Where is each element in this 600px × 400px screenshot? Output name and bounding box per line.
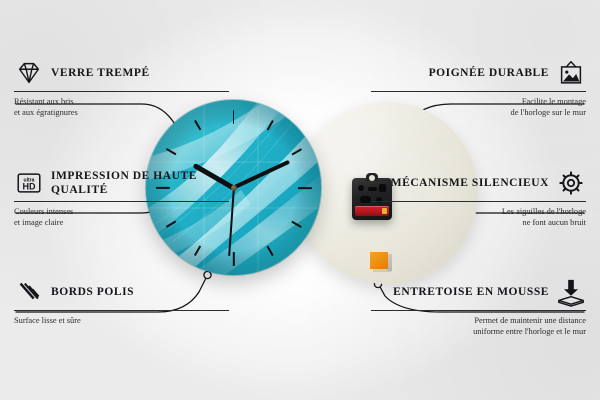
feature-description: Permet de maintenir une distance uniform… <box>371 315 586 338</box>
clock-center-cap <box>231 185 237 191</box>
feature-header: ENTRETOISE EN MOUSSE <box>371 277 586 307</box>
feature-description: Facilite le montage de l'horloge sur le … <box>371 96 586 119</box>
feature-divider <box>371 201 586 202</box>
feature-description: Couleurs intenses et image claire <box>14 206 229 229</box>
ultra-hd-icon-bottom: HD <box>23 182 36 192</box>
feature-entretoise-en-mousse: ENTRETOISE EN MOUSSE Permet de maintenir… <box>371 277 586 338</box>
feature-title: ENTRETOISE EN MOUSSE <box>393 285 549 299</box>
feature-divider <box>14 201 229 202</box>
feature-description: Les aiguilles de l'horloge ne font aucun… <box>371 206 586 229</box>
gear-icon <box>556 168 586 198</box>
feature-header: VERRE TREMPÉ <box>14 58 229 88</box>
infographic-canvas: VERRE TREMPÉ Résistant aux bris et aux é… <box>0 0 600 400</box>
feature-description: Surface lisse et sûre <box>14 315 229 326</box>
clock-marker-12 <box>233 110 235 188</box>
feature-title: VERRE TREMPÉ <box>51 66 150 80</box>
feature-divider <box>14 91 229 92</box>
feature-header: ultra HD IMPRESSION DE HAUTE QUALITÉ <box>14 168 229 198</box>
feature-mecanisme-silencieux: MÉCANISME SILENCIEUX Les aiguilles de l'… <box>371 168 586 229</box>
polished-edges-icon <box>14 277 44 307</box>
clock-marker-3 <box>234 187 312 189</box>
diamond-icon <box>14 58 44 88</box>
feature-title: IMPRESSION DE HAUTE QUALITÉ <box>51 169 229 197</box>
feature-header: POIGNÉE DURABLE <box>371 58 586 88</box>
foam-spacer <box>370 252 388 269</box>
hanging-frame-icon <box>556 58 586 88</box>
movement-detail-4 <box>360 196 371 203</box>
ultra-hd-icon: ultra HD <box>14 168 44 198</box>
feature-description: Résistant aux bris et aux égratignures <box>14 96 229 119</box>
feature-divider <box>371 310 586 311</box>
feature-divider <box>14 310 229 311</box>
feature-divider <box>371 91 586 92</box>
feature-poignee-durable: POIGNÉE DURABLE Facilite le montage de l… <box>371 58 586 119</box>
feature-title: POIGNÉE DURABLE <box>429 66 549 80</box>
feature-verre-trempe: VERRE TREMPÉ Résistant aux bris et aux é… <box>14 58 229 119</box>
feature-header: MÉCANISME SILENCIEUX <box>371 168 586 198</box>
feature-header: BORDS POLIS <box>14 277 229 307</box>
feature-bords-polis: BORDS POLIS Surface lisse et sûre <box>14 277 229 326</box>
feature-title: MÉCANISME SILENCIEUX <box>391 176 549 190</box>
movement-detail-1 <box>358 185 364 191</box>
feature-impression-haute-qualite: ultra HD IMPRESSION DE HAUTE QUALITÉ Cou… <box>14 168 229 229</box>
feature-title: BORDS POLIS <box>51 285 134 299</box>
foam-spacer-icon <box>556 277 586 307</box>
